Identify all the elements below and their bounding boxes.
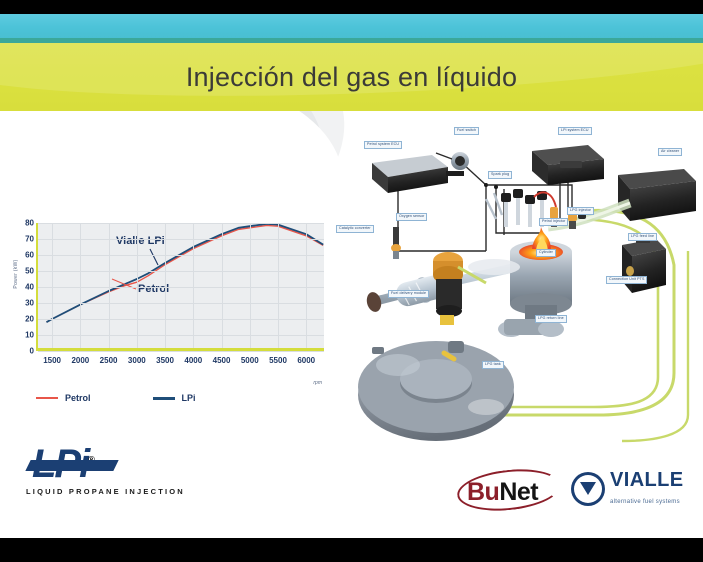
diagram-label-lpg-return-line: LPG return line xyxy=(535,315,567,323)
diagram-label-petrol-system-ecu: Petrol system ECU xyxy=(364,141,402,149)
annotation-vialle-lpi: Vialle LPi xyxy=(116,235,165,247)
vialle-logo-tagline: alternative fuel systems xyxy=(610,499,680,505)
diagram-label-lpg-injector: LPG injector xyxy=(567,207,594,215)
oxygen-sensor-part xyxy=(391,227,401,259)
legend-swatch-petrol xyxy=(36,397,58,400)
header-band-cyan xyxy=(0,14,703,38)
diagram-label-fuel-delivery-module: Fuel delivery module xyxy=(388,290,429,298)
lpi-logo-mark: LPi® xyxy=(26,444,204,484)
diagram-label-catalytic-converter: Catalytic converter xyxy=(336,225,374,233)
legend-label-lpi: LPi xyxy=(182,393,196,403)
chart-gridline-v xyxy=(278,223,279,348)
diagram-label-lpg-feed-line: LPG feed line xyxy=(628,233,657,241)
chart-x-tick: 4000 xyxy=(184,356,202,365)
chart-x-tick: 6000 xyxy=(297,356,315,365)
diagram-label-petrol-injector: Petrol injector xyxy=(539,218,568,226)
chart-y-tick: 50 xyxy=(12,267,34,276)
lpi-logo-slash xyxy=(25,460,118,471)
lpg-tank-part xyxy=(358,341,514,441)
chart-y-tick: 30 xyxy=(12,299,34,308)
diagram-label-lpg-tank: LPG tank xyxy=(482,361,504,369)
diagram-label-air-cleaner: Air cleaner xyxy=(658,148,682,156)
chart-x-tick: 1500 xyxy=(43,356,61,365)
lpi-logo: LPi® LIQUID PROPANE INJECTION xyxy=(26,444,204,502)
chart-x-tick: 2500 xyxy=(100,356,118,365)
air-cleaner-part xyxy=(618,169,696,221)
vialle-logo-name: VIALLE xyxy=(610,469,684,491)
legend-swatch-lpi xyxy=(153,397,175,400)
slide-content: Power (kW) rpm Vialle LPi Petrol 0102030… xyxy=(0,111,703,538)
lpi-system-ecu-part xyxy=(532,145,604,185)
chart-y-tick: 0 xyxy=(12,347,34,356)
chart-x-tick: 5500 xyxy=(269,356,287,365)
letterbox-bottom xyxy=(0,538,703,562)
legend-item-petrol: Petrol xyxy=(36,393,91,403)
chart-x-axis-label: rpm xyxy=(313,380,322,386)
power-curve-chart: Power (kW) rpm Vialle LPi Petrol 0102030… xyxy=(8,219,338,399)
chart-y-tick: 60 xyxy=(12,251,34,260)
letterbox-top xyxy=(0,0,703,14)
chart-x-tick: 2000 xyxy=(71,356,89,365)
bunet-logo-net: Net xyxy=(499,478,538,506)
diagram-label-spark-plug: Spark plug xyxy=(488,171,512,179)
chart-gridline-v xyxy=(137,223,138,348)
diagram-label-lpi-system-ecu: LPi system ECU xyxy=(558,127,592,135)
chart-y-tick: 40 xyxy=(12,283,34,292)
chart-gridline-v xyxy=(165,223,166,348)
chart-gridline-v xyxy=(222,223,223,348)
chart-gridline-v xyxy=(80,223,81,348)
chart-gridline-v xyxy=(306,223,307,348)
chart-gridline-v xyxy=(52,223,53,348)
presentation-slide: Injección del gas en líquido Power (kW) … xyxy=(0,0,703,562)
chart-gridline-v xyxy=(109,223,110,348)
vialle-logo: VIALLE alternative fuel systems xyxy=(571,466,689,512)
chart-gridline-h xyxy=(38,351,324,352)
vialle-logo-words: VIALLE alternative fuel systems xyxy=(610,470,684,508)
legend-item-lpi: LPi xyxy=(153,393,196,403)
chart-y-tick: 10 xyxy=(12,331,34,340)
diagram-label-oxygen-sensor: Oxygen sensor xyxy=(396,213,427,221)
bunet-logo-bu: Bu xyxy=(467,478,499,506)
chart-gridline-v xyxy=(193,223,194,348)
bunet-logo-text: BuNet xyxy=(467,480,538,505)
chart-x-tick: 3000 xyxy=(128,356,146,365)
legend-label-petrol: Petrol xyxy=(65,393,91,403)
chart-gridline-v xyxy=(250,223,251,348)
chart-legend: Petrol LPi xyxy=(36,393,196,403)
chart-y-tick: 70 xyxy=(12,235,34,244)
chart-x-tick: 4500 xyxy=(213,356,231,365)
chart-x-tick: 5000 xyxy=(241,356,259,365)
vialle-logo-badge-icon xyxy=(571,472,605,506)
petrol-system-ecu-part xyxy=(372,155,464,193)
chart-y-tick: 20 xyxy=(12,315,34,324)
connection-unit-pts-part xyxy=(622,233,666,293)
chart-plot-area: Vialle LPi Petrol 0102030405060708015002… xyxy=(36,223,324,351)
diagram-label-fuel-switch: Fuel switch xyxy=(454,127,479,135)
diagram-label-connection-unit-pts: Connection Unit PTS xyxy=(606,276,647,284)
chart-x-tick: 3500 xyxy=(156,356,174,365)
bunet-logo: BuNet xyxy=(457,466,565,512)
lpi-logo-tagline: LIQUID PROPANE INJECTION xyxy=(26,487,204,496)
chart-y-tick: 80 xyxy=(12,219,34,228)
page-title: Injección del gas en líquido xyxy=(0,43,703,111)
diagram-label-cylinder: Cylinder xyxy=(536,249,556,257)
